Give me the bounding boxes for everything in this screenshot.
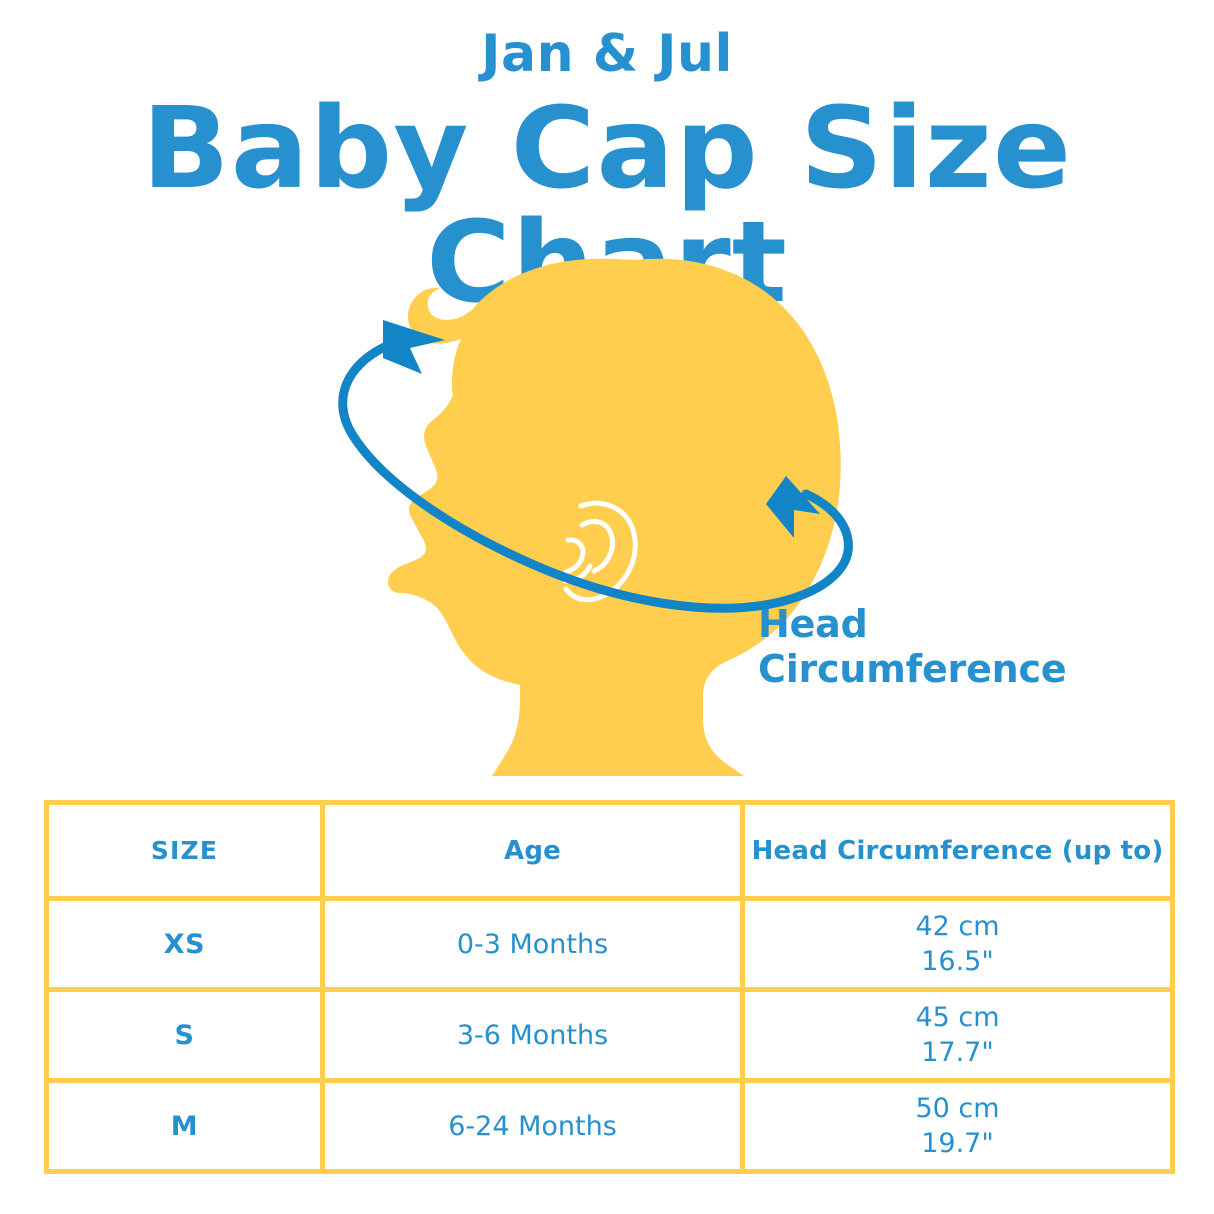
cell-head-cm: 42 cm [745, 909, 1170, 944]
head-silhouette [388, 259, 841, 776]
cell-size: S [47, 990, 323, 1081]
head-circumference-label-line2: Circumference [758, 647, 1066, 692]
column-header-head-circumference: Head Circumference (up to) [743, 803, 1173, 899]
cell-head-in: 17.7" [745, 1035, 1170, 1070]
size-chart-page: Jan & Jul Baby Cap Size Chart [0, 0, 1214, 1214]
head-illustration [300, 248, 920, 788]
cell-size: M [47, 1081, 323, 1172]
cell-head-cm: 50 cm [745, 1091, 1170, 1126]
cell-head-circumference: 42 cm 16.5" [743, 899, 1173, 990]
head-circumference-label: Head Circumference [758, 602, 1066, 692]
brand-name: Jan & Jul [0, 28, 1214, 80]
cell-size: XS [47, 899, 323, 990]
table-body: XS 0-3 Months 42 cm 16.5" S 3-6 Months 4… [47, 899, 1173, 1172]
head-circumference-label-line1: Head [758, 602, 1066, 647]
cell-head-in: 19.7" [745, 1126, 1170, 1161]
cell-head-cm: 45 cm [745, 1000, 1170, 1035]
cell-head-circumference: 50 cm 19.7" [743, 1081, 1173, 1172]
column-header-age: Age [323, 803, 743, 899]
cell-head-in: 16.5" [745, 944, 1170, 979]
table-header: SIZE Age Head Circumference (up to) [47, 803, 1173, 899]
table-header-row: SIZE Age Head Circumference (up to) [47, 803, 1173, 899]
column-header-size: SIZE [47, 803, 323, 899]
table-row: M 6-24 Months 50 cm 19.7" [47, 1081, 1173, 1172]
cell-age: 6-24 Months [323, 1081, 743, 1172]
cell-head-circumference: 45 cm 17.7" [743, 990, 1173, 1081]
size-chart-table: SIZE Age Head Circumference (up to) XS 0… [44, 800, 1175, 1174]
table-row: S 3-6 Months 45 cm 17.7" [47, 990, 1173, 1081]
table-row: XS 0-3 Months 42 cm 16.5" [47, 899, 1173, 990]
cell-age: 3-6 Months [323, 990, 743, 1081]
cell-age: 0-3 Months [323, 899, 743, 990]
